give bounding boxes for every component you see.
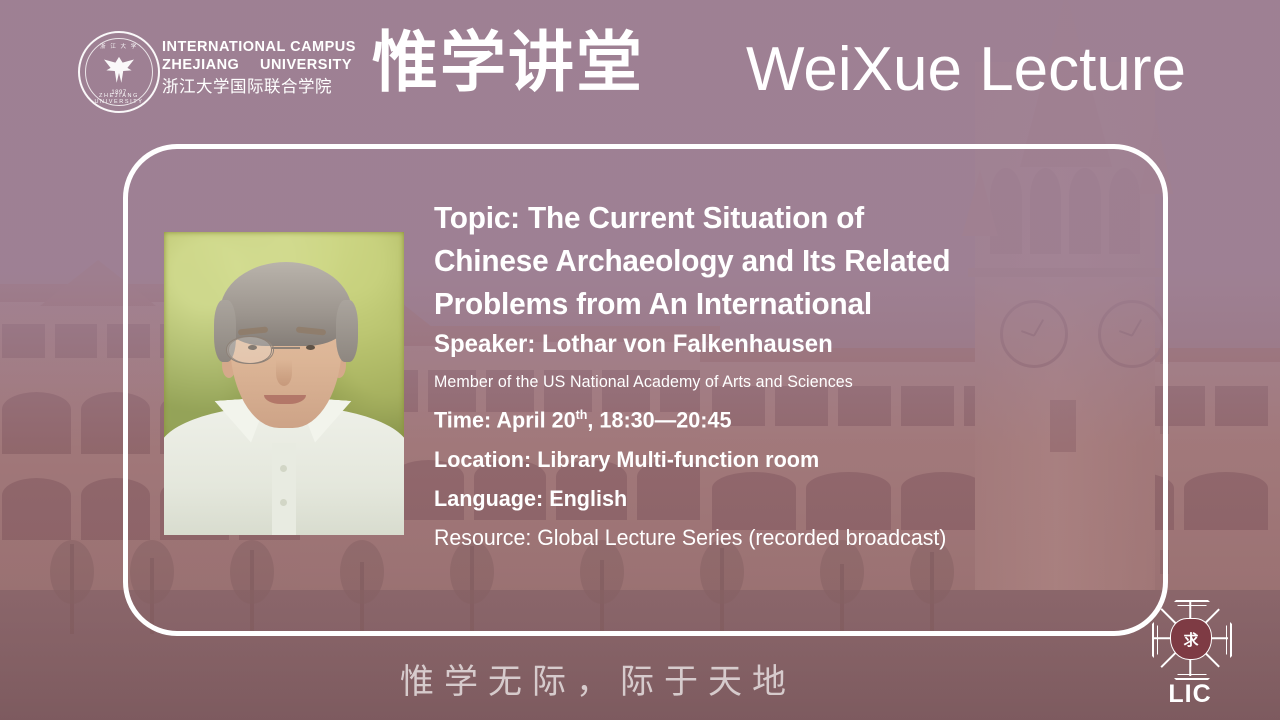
time-label: Time: April 20: [434, 408, 576, 433]
button: [280, 499, 287, 506]
topic-line-1: Topic: The Current Situation of: [434, 196, 1087, 239]
time-range: , 18:30—20:45: [587, 408, 731, 433]
lecture-details: Topic: The Current Situation of Chinese …: [434, 196, 1114, 556]
org-line-2-left: ZHEJIANG: [162, 56, 239, 74]
lecture-resource: Resource: Global Lecture Series (recorde…: [434, 520, 1094, 556]
portrait-nose: [276, 360, 292, 386]
speaker-portrait-photo: [164, 232, 404, 535]
org-chinese-name: 浙江大学国际联合学院: [162, 76, 356, 98]
org-line-2-right: UNIVERSITY: [260, 56, 352, 74]
lecture-language: Language: English: [434, 479, 1087, 518]
lecture-speaker: Speaker: Lothar von Falkenhausen: [434, 327, 1087, 361]
topic-line-3: Problems from An International: [434, 282, 1087, 325]
lecture-location: Location: Library Multi-function room: [434, 440, 1087, 479]
bridge: [272, 347, 300, 349]
lecture-poster: 浙 江 大 学 1897 ZHEJIANG UNIVERSITY INTERNA…: [0, 0, 1280, 720]
button: [280, 465, 287, 472]
topic-line-2: Chinese Archaeology and Its Related: [434, 239, 1087, 282]
portrait-placket: [272, 443, 296, 535]
lens-right: [226, 336, 272, 364]
seal-arc-top: 浙 江 大 学: [80, 42, 158, 50]
time-ordinal-suffix: th: [576, 407, 588, 422]
org-line-1: INTERNATIONAL CAMPUS: [162, 38, 356, 56]
brand-title-english: WeiXue Lecture: [746, 33, 1186, 107]
lic-emblem-icon: 求: [1170, 618, 1212, 660]
poster-header: 浙 江 大 学 1897 ZHEJIANG UNIVERSITY INTERNA…: [0, 0, 1280, 135]
lecture-time: Time: April 20th, 18:30—20:45: [434, 395, 1087, 440]
zhejiang-university-seal-icon: 浙 江 大 学 1897 ZHEJIANG UNIVERSITY: [78, 31, 160, 113]
footer-slogan: 惟学无际，际于天地: [400, 654, 796, 703]
lecture-topic: Topic: The Current Situation of Chinese …: [434, 196, 1087, 325]
lic-logo-text: LIC: [1148, 680, 1232, 709]
speaker-affiliation: Member of the US National Academy of Art…: [434, 369, 1094, 395]
org-line-2: ZHEJIANG UNIVERSITY: [162, 56, 352, 74]
glasses-icon: [226, 336, 346, 362]
brand-title-chinese: 惟学讲堂: [372, 25, 644, 101]
lic-logo: 求 LIC: [1148, 600, 1232, 708]
university-wordmark: INTERNATIONAL CAMPUS ZHEJIANG UNIVERSITY…: [162, 38, 356, 98]
seal-arc-bottom: ZHEJIANG UNIVERSITY: [80, 93, 158, 105]
